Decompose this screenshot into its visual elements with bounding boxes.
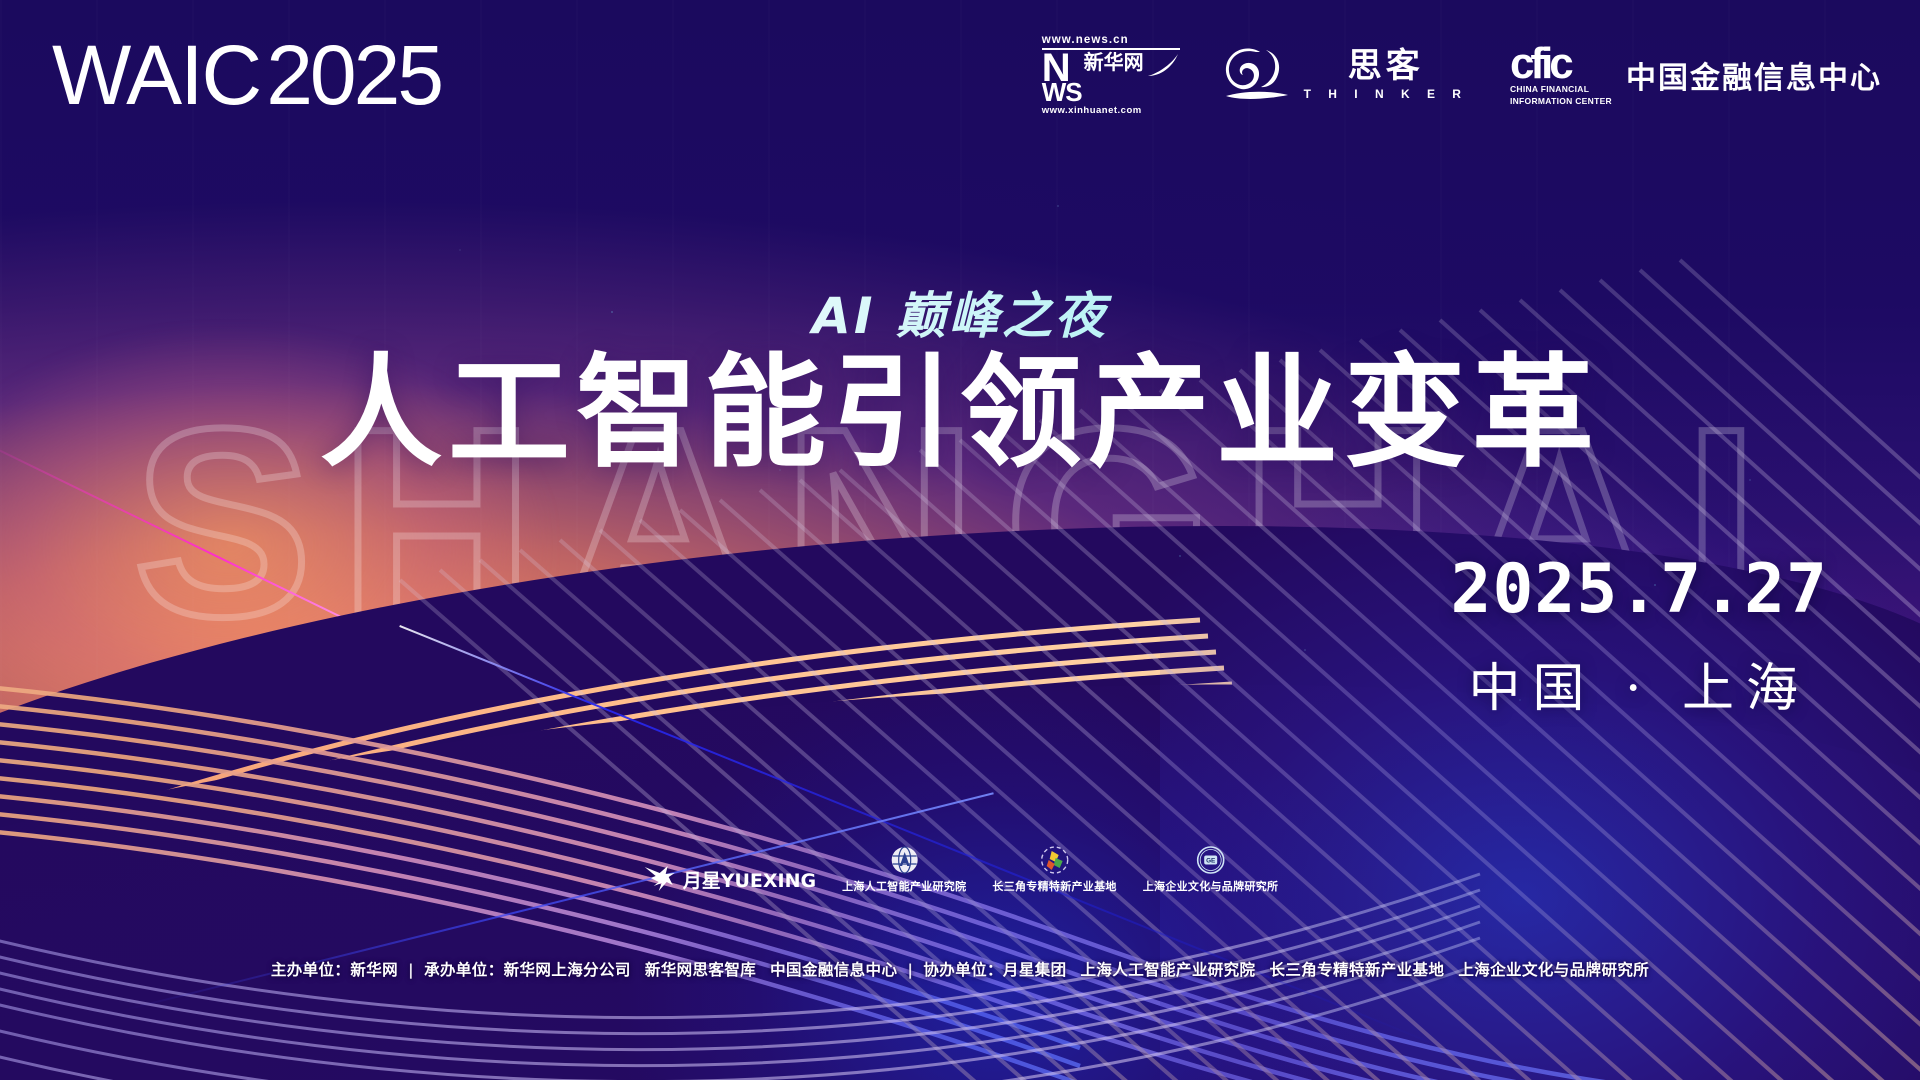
thinker-logo: 思客 T H I N K E R — [1222, 46, 1468, 104]
event-date-block: 2025.7.27 中国 · 上海 — [1451, 556, 1828, 721]
event-headline: 人工智能引领产业变革 — [0, 345, 1920, 482]
waic-logo: WAIC 2025 — [52, 33, 441, 117]
waic-year: 2025 — [266, 33, 441, 117]
cfic-letters: cfic — [1510, 44, 1612, 84]
xinhuanet-chinese: 新华网 — [1084, 52, 1144, 72]
credits-coorg-1: 月星集团 — [1003, 961, 1067, 979]
thinker-chinese: 思客 — [1348, 49, 1424, 83]
yangtze-delta-icon — [1040, 845, 1070, 875]
cfic-logo: cfic CHINA FINANCIAL INFORMATION CENTER … — [1510, 44, 1882, 107]
enterprise-culture-icon: GE — [1196, 845, 1226, 875]
sponsor-yangtze-delta-base: 长三角专精特新产业基地 — [992, 845, 1116, 894]
partner-logo-row: www.news.cn N WS 新华网 www.xinhuanet.com — [1042, 34, 1882, 116]
sponsor-enterprise-culture-institute: GE 上海企业文化与品牌研究所 — [1143, 845, 1279, 894]
credits-coorg-label: 协办单位： — [923, 961, 1003, 979]
cfic-sub-line1: CHINA FINANCIAL — [1510, 84, 1612, 95]
sponsor-yuexing-label: 月星YUEXING — [683, 866, 816, 893]
cfic-chinese: 中国金融信息中心 — [1626, 53, 1882, 97]
xinhuanet-logo: www.news.cn N WS 新华网 www.xinhuanet.com — [1042, 34, 1180, 116]
event-date: 2025.7.27 — [1451, 556, 1828, 624]
xinhuanet-letter-ws: WS — [1042, 82, 1082, 103]
credits-organizer-label: 承办单位： — [424, 961, 504, 979]
xinhuanet-swoosh-icon — [1146, 52, 1180, 78]
credits-host-value: 新华网 — [350, 961, 398, 979]
sponsor-yangtze-delta-base-label: 长三角专精特新产业基地 — [992, 878, 1116, 894]
credits-separator-2: | — [907, 961, 913, 979]
sponsor-shanghai-ai-institute-label: 上海人工智能产业研究院 — [842, 878, 966, 894]
xinhuanet-url-bottom: www.xinhuanet.com — [1042, 105, 1142, 116]
poster-header: WAIC 2025 www.news.cn N WS 新华网 www — [0, 0, 1920, 150]
waic-wordmark: WAIC — [52, 33, 260, 117]
credits-separator-1: | — [408, 961, 414, 979]
cfic-sub-line2: INFORMATION CENTER — [1510, 96, 1612, 107]
sponsor-enterprise-culture-institute-label: 上海企业文化与品牌研究所 — [1143, 878, 1279, 894]
sponsor-yuexing: 月星YUEXING — [642, 864, 816, 894]
credits-organizer-2: 新华网思客智库 — [645, 961, 756, 979]
event-subtitle: AI 巅峰之夜 — [0, 276, 1920, 348]
credits-coorg-3: 长三角专精特新产业基地 — [1269, 961, 1444, 979]
sponsor-shanghai-ai-institute: 上海人工智能产业研究院 — [842, 845, 966, 894]
credits-host-label: 主办单位： — [271, 961, 351, 979]
thinker-english: T H I N K E R — [1304, 87, 1468, 101]
credits-coorg-2: 上海人工智能产业研究院 — [1081, 961, 1256, 979]
globe-ai-icon — [889, 845, 919, 875]
yuexing-star-icon — [642, 864, 676, 894]
sponsor-logo-row: 月星YUEXING 上海人工智能产业研究院 长三角专精特新产业基地 — [642, 845, 1279, 894]
xinhuanet-url-top: www.news.cn — [1042, 34, 1129, 47]
thinker-spiral-icon — [1222, 46, 1294, 104]
credits-line: 主办单位：新华网|承办单位：新华网上海分公司新华网思客智库中国金融信息中心|协办… — [0, 958, 1920, 980]
credits-organizer-3: 中国金融信息中心 — [770, 961, 897, 979]
event-city: 中国 · 上海 — [1451, 646, 1828, 721]
poster-canvas: SHANGHAI — [0, 0, 1920, 1080]
credits-coorg-4: 上海企业文化与品牌研究所 — [1458, 961, 1649, 979]
credits-organizer-1: 新华网上海分公司 — [504, 961, 631, 979]
svg-text:GE: GE — [1206, 858, 1216, 865]
